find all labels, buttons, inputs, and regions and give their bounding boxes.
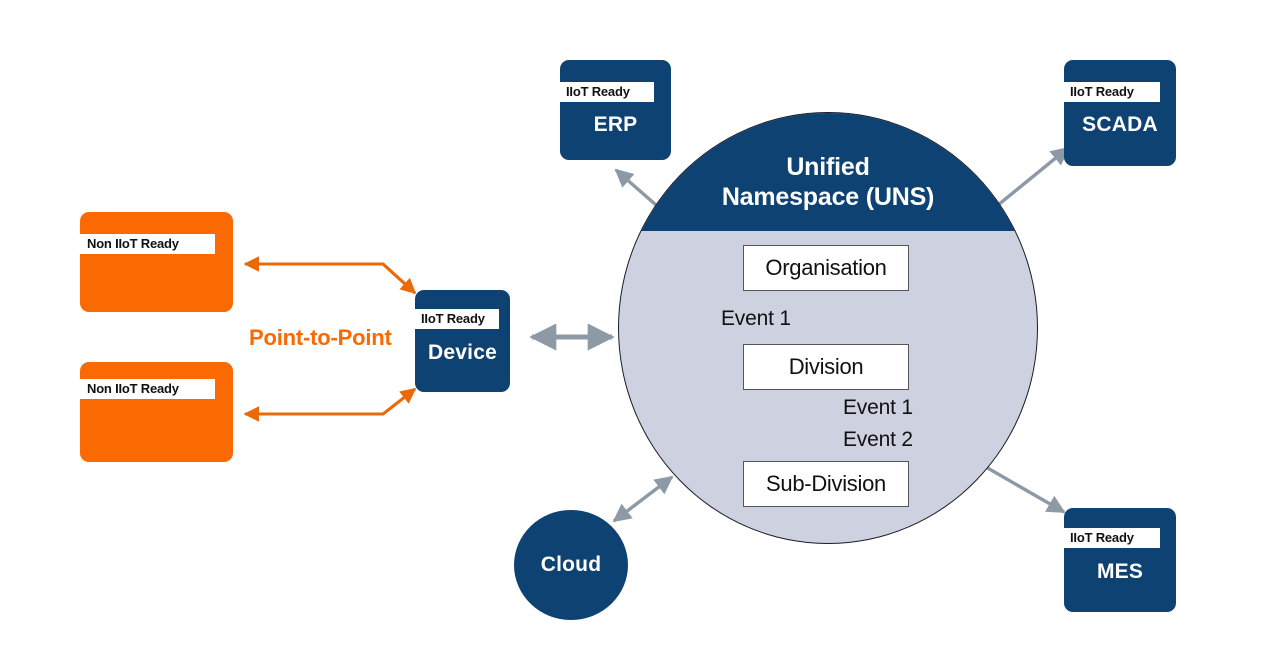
node-scada-tag: IIoT Ready <box>1064 82 1160 102</box>
node-mes-tag: IIoT Ready <box>1064 528 1160 548</box>
node-non-iiot-top[interactable]: Non IIoT Ready <box>80 212 233 312</box>
node-non-iiot-bottom[interactable]: Non IIoT Ready <box>80 362 233 462</box>
node-device-tag: IIoT Ready <box>415 309 499 329</box>
node-erp-name: ERP <box>594 113 638 137</box>
hierarchy-box-organisation[interactable]: Organisation <box>743 245 909 291</box>
node-device[interactable]: IIoT Ready Device <box>415 290 510 392</box>
hierarchy-label-organisation: Organisation <box>765 255 886 281</box>
arrow-device-to-nonIIoT-bottom <box>245 389 415 414</box>
hierarchy-box-division[interactable]: Division <box>743 344 909 390</box>
point-to-point-label: Point-to-Point <box>249 325 392 351</box>
node-erp-tag: IIoT Ready <box>560 82 654 102</box>
uns-title-line1: Unified <box>786 153 869 181</box>
hierarchy-label-subdivision: Sub-Division <box>766 471 886 497</box>
node-device-name: Device <box>428 341 497 365</box>
diagram-canvas: Unified Namespace (UNS) Organisation Div… <box>0 0 1280 668</box>
arrow-device-to-nonIIoT-top <box>245 264 415 293</box>
event-label-scada-event1: Event 1 <box>843 396 913 420</box>
node-scada[interactable]: IIoT Ready SCADA <box>1064 60 1176 166</box>
event-label-org-division: Event 1 <box>721 307 791 331</box>
node-scada-name: SCADA <box>1082 113 1158 137</box>
node-cloud-label: Cloud <box>541 553 601 577</box>
node-mes-name: MES <box>1097 560 1143 584</box>
node-non-iiot-top-tag: Non IIoT Ready <box>80 234 215 254</box>
hierarchy-label-division: Division <box>789 354 864 380</box>
uns-title-line2: Namespace (UNS) <box>722 183 934 211</box>
arrow-uns-cloud <box>614 477 672 521</box>
event-label-mes-event2: Event 2 <box>843 428 913 452</box>
node-erp[interactable]: IIoT Ready ERP <box>560 60 671 160</box>
node-cloud[interactable]: Cloud <box>514 510 628 620</box>
uns-title: Unified Namespace (UNS) <box>619 153 1037 212</box>
node-non-iiot-bottom-tag: Non IIoT Ready <box>80 379 215 399</box>
hierarchy-box-subdivision[interactable]: Sub-Division <box>743 461 909 507</box>
node-mes[interactable]: IIoT Ready MES <box>1064 508 1176 612</box>
